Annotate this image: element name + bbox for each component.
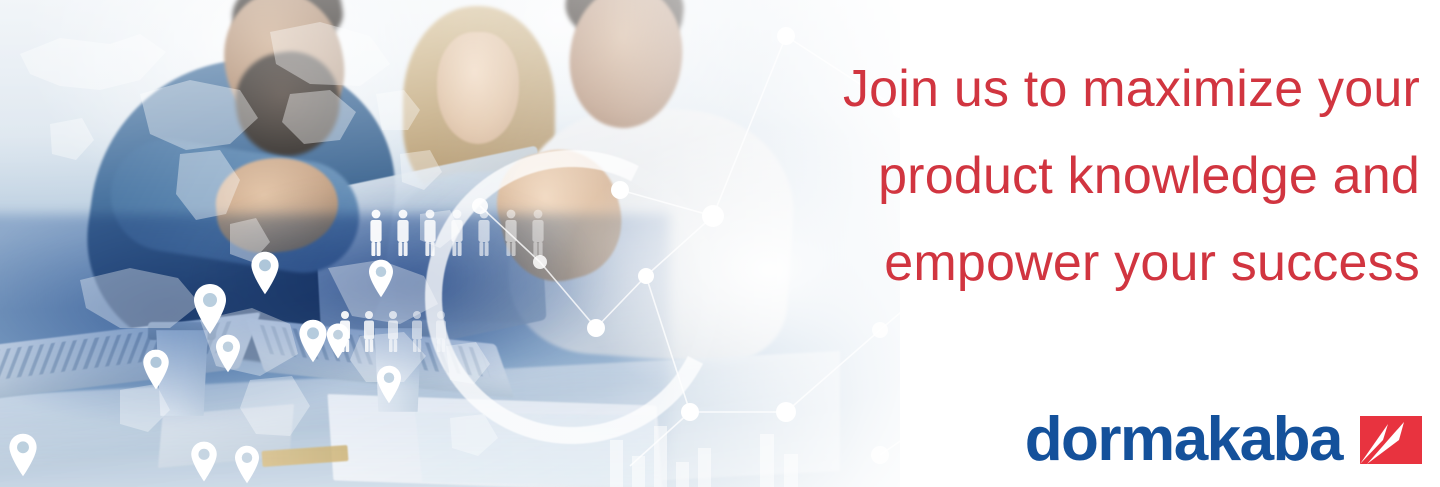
blue-technology-tint-secondary [180,180,600,380]
headline-line-2: product knowledge and [680,133,1420,220]
headline-line-3: empower your success [680,220,1420,307]
headline-line-1: Join us to maximize your [680,46,1420,133]
person-blonde-woman-face [437,32,519,144]
logo-wordmark: dormakaba [1025,409,1342,471]
page-title: Join us to maximize your product knowled… [680,46,1420,307]
dormakaba-logo[interactable]: dormakaba [1025,409,1422,471]
dormakaba-mark-icon [1360,416,1422,464]
promotional-banner: Join us to maximize your product knowled… [0,0,1440,487]
